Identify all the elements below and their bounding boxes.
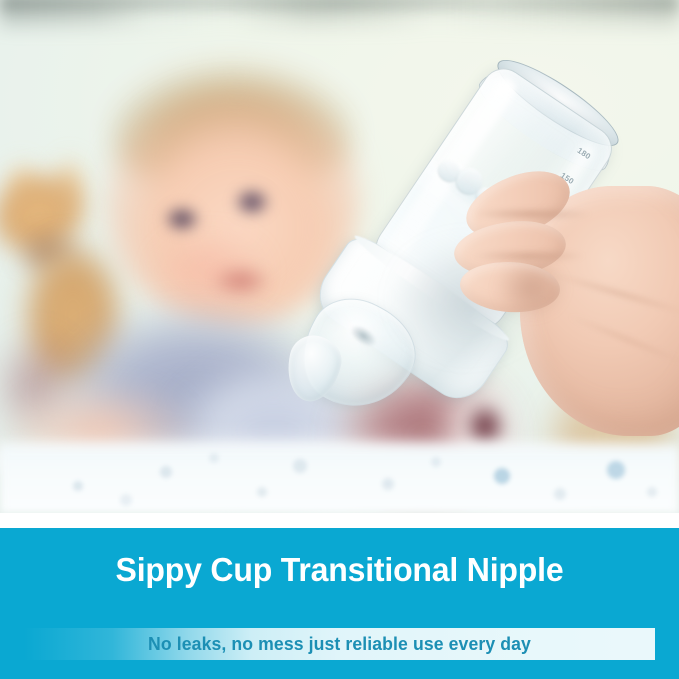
- bedsheet-dot: [647, 487, 657, 497]
- product-lifestyle-photo: 180 150 120 90 60 30 6 5 4 3 2 1: [0, 0, 679, 513]
- bedsheet-dot: [73, 481, 83, 491]
- photo-top-blur-strip: [0, 0, 679, 26]
- adult-hand: [476, 150, 679, 450]
- baby-mouth: [210, 264, 272, 298]
- baby-eye-right: [232, 186, 272, 218]
- bedsheet-dot: [257, 487, 267, 497]
- baby-eye-left: [162, 204, 202, 234]
- caption-bar: Sippy Cup Transitional Nipple No leaks, …: [0, 528, 679, 679]
- banner-subtitle: No leaks, no mess just reliable use ever…: [30, 628, 648, 660]
- bedsheet-dot: [607, 461, 625, 479]
- bedsheet-dot: [554, 488, 566, 500]
- bedsheet-dot: [160, 466, 172, 478]
- hand-thumb-shadow: [496, 258, 566, 318]
- hand-knuckle-shadow: [472, 208, 592, 220]
- bedsheet-dot: [209, 453, 219, 463]
- banner-title: Sippy Cup Transitional Nipple: [10, 550, 669, 590]
- product-banner-image: 180 150 120 90 60 30 6 5 4 3 2 1: [0, 0, 679, 679]
- bedsheet-dot: [293, 459, 307, 473]
- bedsheet-dot: [494, 468, 510, 484]
- bedsheet-dot: [120, 494, 132, 506]
- photo-caption-divider: [0, 513, 679, 528]
- bedsheet-dot: [382, 478, 394, 490]
- bedsheet-dot: [431, 457, 441, 467]
